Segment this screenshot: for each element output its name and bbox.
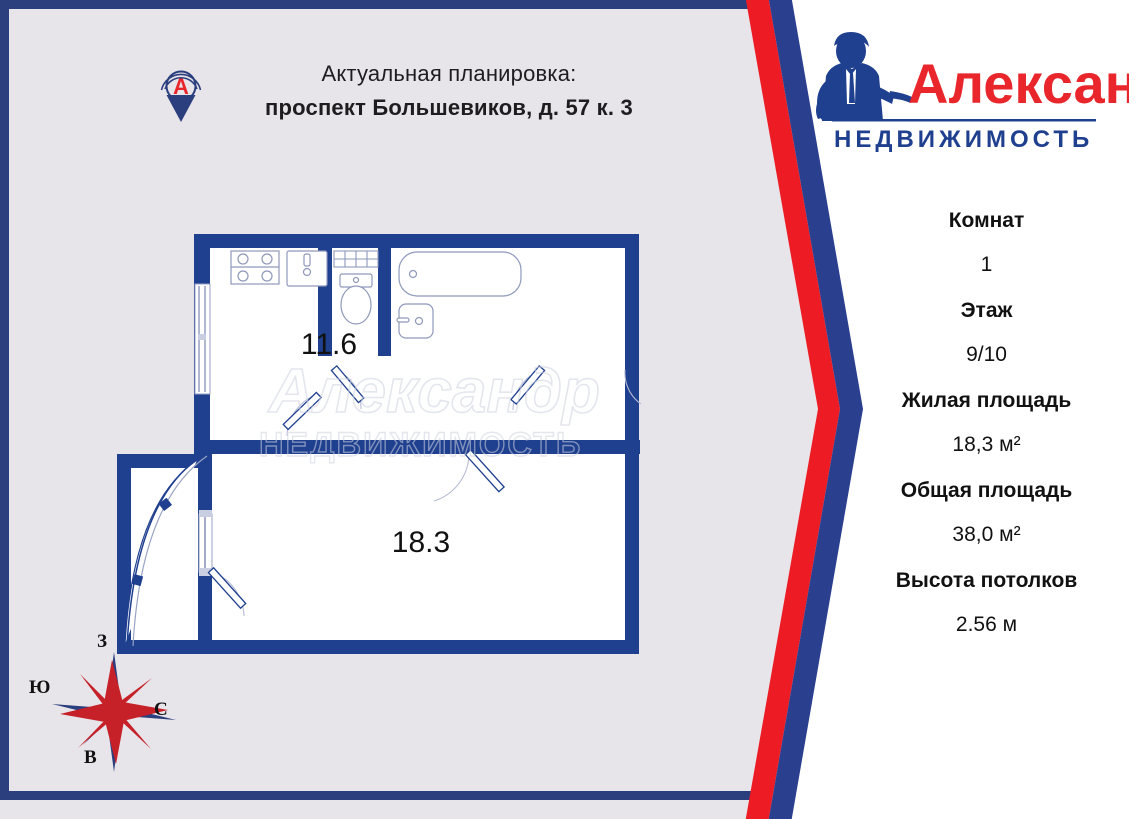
total-value: 38,0 м² — [844, 523, 1129, 547]
living-value: 18,3 м² — [844, 433, 1129, 457]
rooms-label: Комнат — [844, 209, 1129, 233]
ceiling-value: 2.56 м — [844, 613, 1129, 637]
address-line1: Актуальная планировка: — [219, 57, 679, 91]
ceiling-label: Высота потолков — [844, 569, 1129, 593]
living-area-label: 18.3 — [392, 526, 450, 559]
total-label: Общая площадь — [844, 479, 1129, 503]
floor-label: Этаж — [844, 299, 1129, 323]
toilet-icon — [340, 274, 372, 324]
radiator-icon — [334, 251, 378, 267]
logo-brand: Александр — [908, 52, 1129, 115]
floor-plan-drawing: Александр НЕДВИЖИМОСТЬ 11.6 18.3 — [29, 204, 689, 694]
map-pin-icon: А — [159, 62, 203, 124]
bathtub-icon — [399, 252, 521, 296]
address-line2: проспект Большевиков, д. 57 к. 3 — [219, 91, 679, 125]
floor-value: 9/10 — [844, 343, 1129, 367]
rooms-value: 1 — [844, 253, 1129, 277]
stove-icon — [231, 251, 279, 284]
property-info-list: Комнат 1 Этаж 9/10 Жилая площадь 18,3 м²… — [844, 209, 1129, 637]
bathroom-sink-icon — [397, 304, 433, 338]
compass-label-south: В — [84, 747, 97, 769]
kitchen-area-label: 11.6 — [301, 328, 357, 361]
company-logo: Александр НЕДВИЖИМОСТЬ — [804, 31, 1129, 156]
pointing-man-icon — [816, 32, 912, 121]
floorplan-page: А Актуальная планировка: проспект Больше… — [0, 0, 1140, 800]
compass-label-east: С — [154, 699, 168, 721]
logo-subtitle: НЕДВИЖИМОСТЬ — [834, 126, 1093, 153]
plan-watermark: Александр НЕДВИЖИМОСТЬ — [259, 357, 600, 464]
kitchen-sink-icon — [287, 251, 327, 286]
svg-text:Александр: Александр — [267, 357, 600, 426]
header-block: А Актуальная планировка: проспект Больше… — [159, 57, 679, 147]
svg-text:НЕДВИЖИМОСТЬ: НЕДВИЖИМОСТЬ — [259, 426, 582, 464]
address-text: Актуальная планировка: проспект Большеви… — [219, 57, 679, 125]
living-label: Жилая площадь — [844, 389, 1129, 413]
